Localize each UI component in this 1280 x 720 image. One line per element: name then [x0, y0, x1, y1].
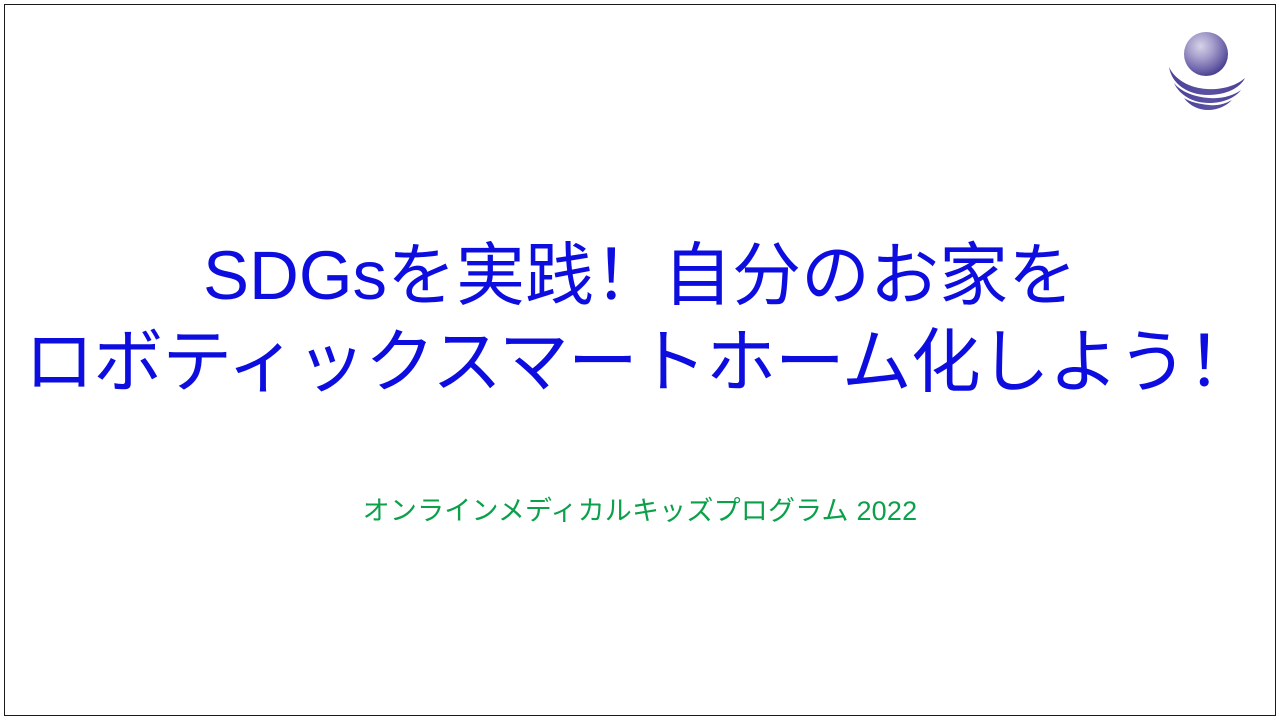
page-title: SDGsを実践！自分のお家を ロボティックスマートホーム化しよう！	[5, 233, 1275, 405]
sphere-and-arcs-icon	[1163, 23, 1249, 111]
organization-logo	[1163, 23, 1249, 111]
title-line-2: ロボティックスマートホーム化しよう！	[5, 319, 1275, 405]
slide-canvas: SDGsを実践！自分のお家を ロボティックスマートホーム化しよう！ オンラインメ…	[4, 4, 1276, 716]
presentation-slide: SDGsを実践！自分のお家を ロボティックスマートホーム化しよう！ オンラインメ…	[0, 0, 1280, 720]
subtitle-container: オンラインメディカルキッズプログラム 2022	[5, 494, 1275, 528]
program-subtitle: オンラインメディカルキッズプログラム 2022	[363, 494, 918, 528]
logo-sphere	[1184, 32, 1228, 76]
title-line-1: SDGsを実践！自分のお家を	[5, 233, 1275, 319]
